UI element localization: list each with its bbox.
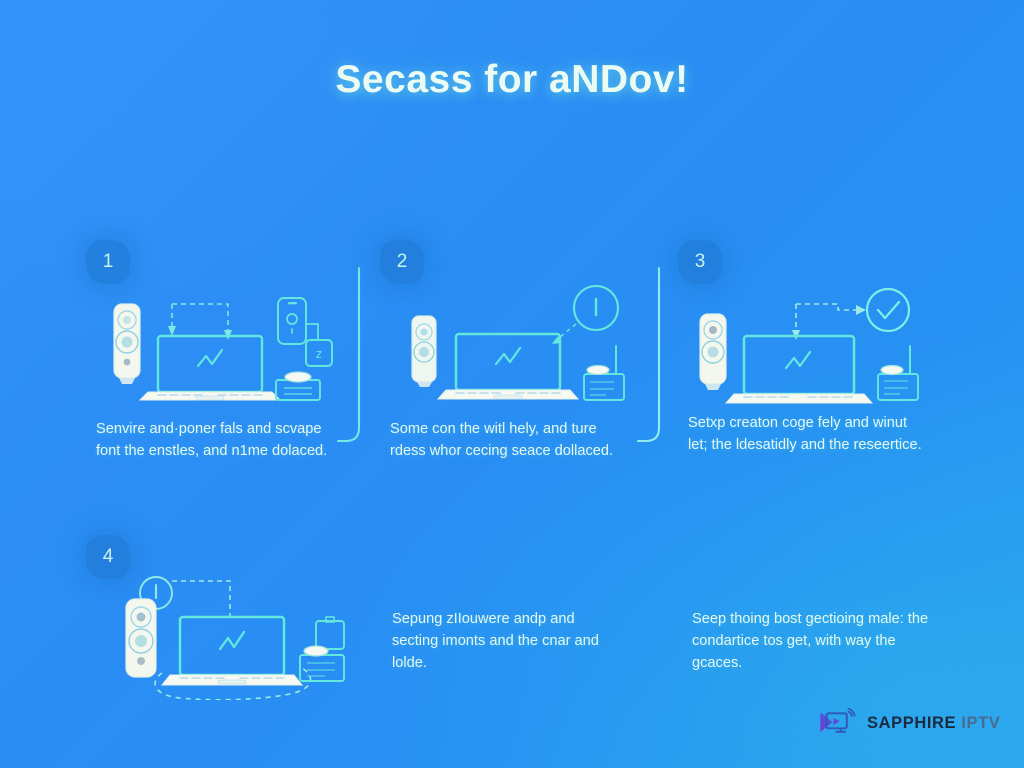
extra-caption: Seep thoing bost gectioing male: the con… xyxy=(692,608,932,674)
step-4: 4 xyxy=(86,535,386,715)
step-4-caption: Sepung zIIouwere andp and secting imonts… xyxy=(392,608,624,674)
page-title: Secass for aNDov! xyxy=(0,58,1024,102)
step-1-caption: Senvire and·poner fals and scvape font t… xyxy=(96,418,328,462)
step-3-caption: Setxp creaton coge fely and winut let; t… xyxy=(688,412,928,456)
brand-name-primary: SAPPHIRE xyxy=(867,714,956,732)
infographic-poster: Secass for aNDov! 1 xyxy=(0,0,1024,768)
brand-logo: SAPPHIRE IPTV xyxy=(818,708,1000,738)
step-3: 3 xyxy=(678,240,938,490)
tv-play-icon xyxy=(818,708,858,738)
step-number-badge-2: 2 xyxy=(380,240,424,284)
step-3-illustration xyxy=(686,276,936,409)
step-2-illustration xyxy=(394,282,634,407)
column-divider-2 xyxy=(638,268,672,448)
step-2: 2 xyxy=(380,240,630,490)
brand-name-secondary: IPTV xyxy=(961,714,1000,732)
step-number-label: 3 xyxy=(695,251,706,273)
brand-wordmark: SAPPHIRE IPTV xyxy=(867,714,1000,733)
step-number-label: 2 xyxy=(397,251,408,273)
step-number-label: 1 xyxy=(103,251,114,273)
step-2-caption: Some con the witl hely, and ture rdess w… xyxy=(390,418,622,462)
step-4-illustration xyxy=(110,555,390,705)
step-1: 1 xyxy=(86,240,336,490)
column-divider-1 xyxy=(338,268,372,448)
step-number-badge-1: 1 xyxy=(86,240,130,284)
svg-text:z: z xyxy=(316,346,323,361)
step-1-illustration: z xyxy=(100,282,340,407)
